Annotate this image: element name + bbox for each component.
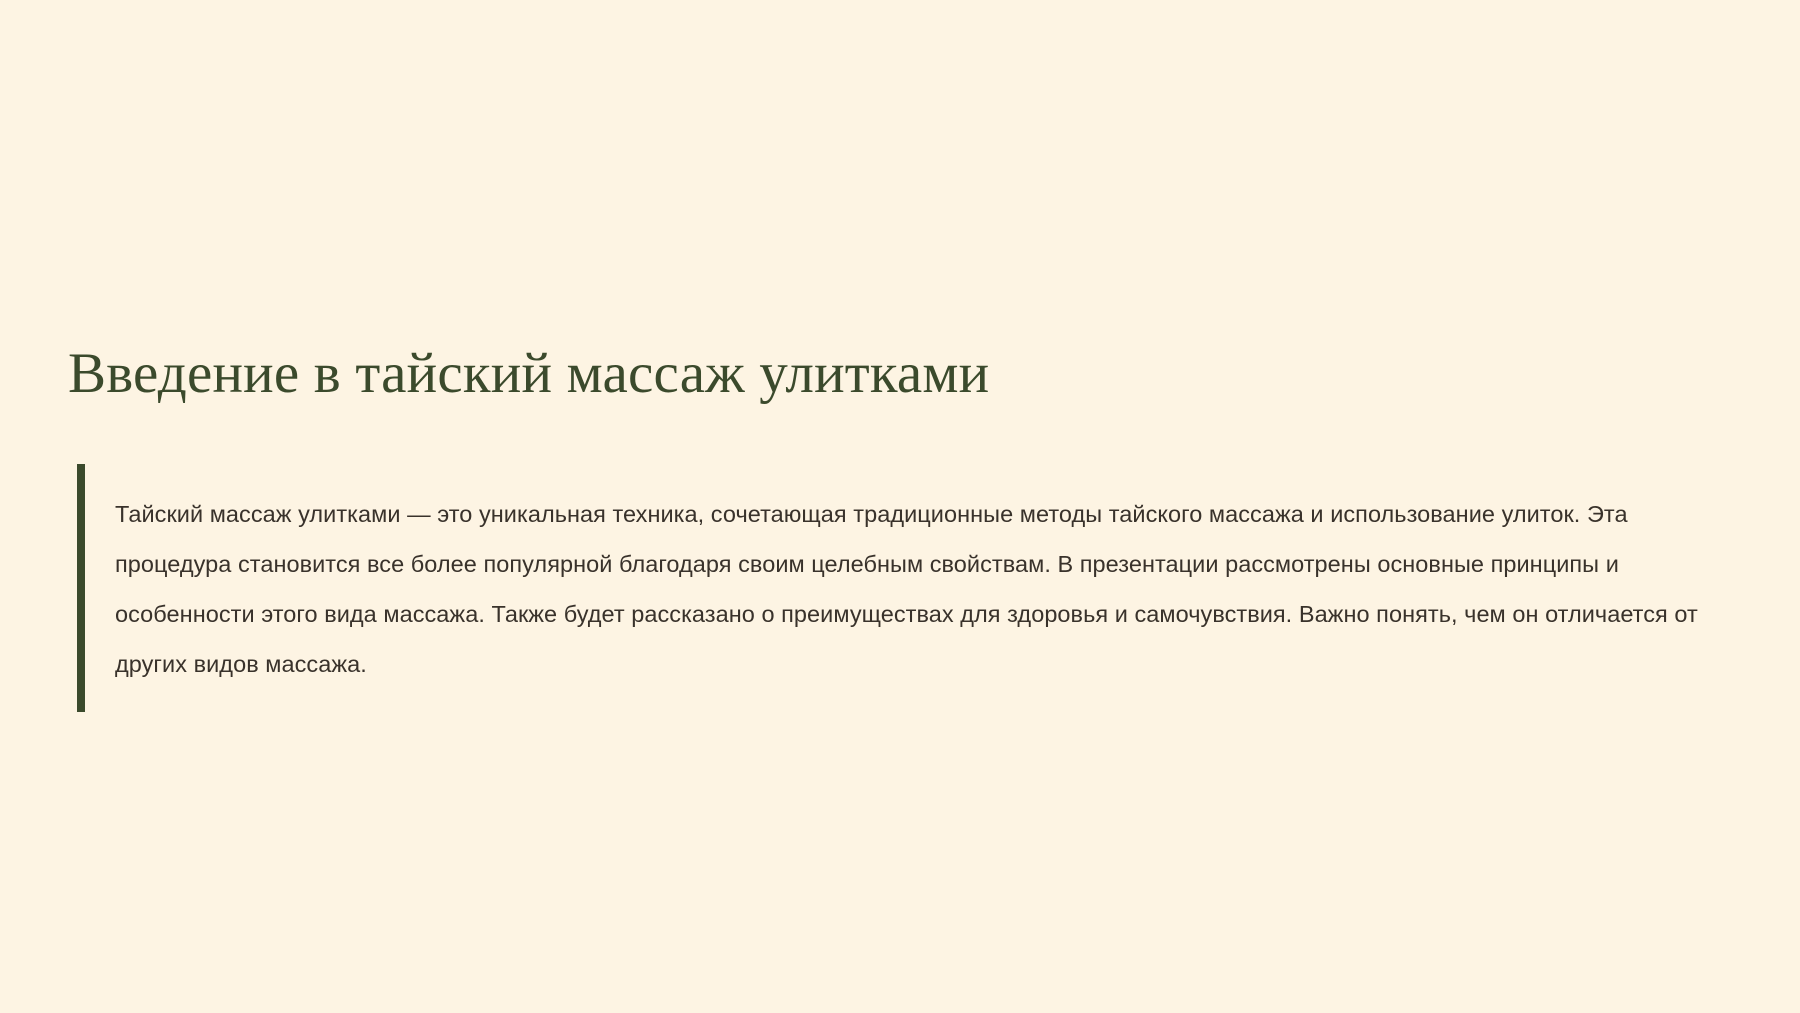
- presentation-slide: Введение в тайский массаж улитками Тайск…: [0, 0, 1800, 1013]
- accent-bar: [77, 464, 85, 712]
- body-quote-block: Тайский массаж улитками — это уникальная…: [77, 464, 1737, 712]
- body-paragraph: Тайский массаж улитками — это уникальная…: [85, 488, 1737, 689]
- page-title: Введение в тайский массаж улитками: [68, 340, 1728, 407]
